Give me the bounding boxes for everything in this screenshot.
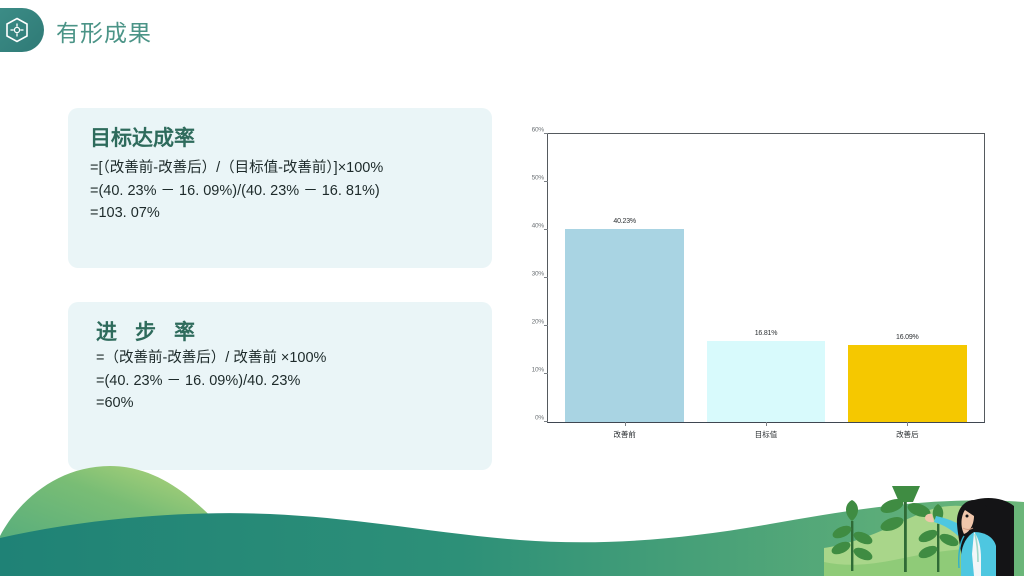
hill-light-shape [0, 466, 282, 576]
results-bar-chart: 0%10%20%30%40%50%60% 40.23%改善前16.81%目标值1… [505, 108, 1005, 458]
woman-figure [925, 498, 1014, 576]
chart-y-tick-label: 50% [532, 175, 544, 182]
chart-bar-group[interactable]: 16.09%改善后 [848, 134, 967, 422]
chart-bars-layer: 40.23%改善前16.81%目标值16.09%改善后 [548, 134, 984, 422]
wave-dark-shape [0, 500, 1024, 576]
chart-x-tick-label: 改善前 [613, 429, 636, 440]
chart-x-tick-label: 目标值 [755, 429, 778, 440]
progress-rate-heading: 进步率 [90, 320, 470, 345]
chart-y-tick-label: 10% [532, 367, 544, 374]
illustration-hill-front [824, 549, 1014, 576]
chart-bar-group[interactable]: 16.81%目标值 [707, 134, 826, 422]
chart-x-tick-mark [625, 422, 626, 426]
chart-y-tick-label: 0% [535, 415, 544, 422]
plant-left-icon [830, 500, 875, 571]
chart-bar-value-label: 16.81% [755, 330, 778, 337]
chart-y-tick-label: 20% [532, 319, 544, 326]
header-badge [0, 8, 44, 52]
chart-y-tick-label: 30% [532, 271, 544, 278]
progress-rate-card: 进步率 =（改善前-改善后）/ 改善前 ×100% =(40. 23% － 16… [68, 302, 492, 470]
chart-x-tick-label: 改善后 [896, 429, 919, 440]
chart-plot-area: 0%10%20%30%40%50%60% 40.23%改善前16.81%目标值1… [547, 133, 985, 423]
chart-bar-value-label: 40.23% [613, 218, 636, 225]
chart-bar[interactable] [707, 341, 826, 422]
woman-watering-plants-illustration [824, 466, 1014, 576]
chart-bar-group[interactable]: 40.23%改善前 [565, 134, 684, 422]
hexagon-target-icon [5, 17, 29, 43]
progress-rate-formula: =（改善前-改善后）/ 改善前 ×100% =(40. 23% － 16. 09… [90, 347, 470, 414]
chart-y-tick-label: 40% [532, 223, 544, 230]
goal-achievement-card: 目标达成率 =[（改善前-改善后）/（目标值-改善前）]×100% =(40. … [68, 108, 492, 268]
goal-achievement-heading: 目标达成率 [90, 126, 470, 151]
chart-bar-value-label: 16.09% [896, 334, 919, 341]
chart-x-tick-mark [907, 422, 908, 426]
illustration-hill [824, 506, 1014, 576]
chart-bar[interactable] [848, 345, 967, 422]
page-title: 有形成果 [56, 14, 152, 48]
plant-right-icon [917, 504, 960, 572]
chart-bar[interactable] [565, 229, 684, 422]
chart-x-tick-mark [766, 422, 767, 426]
slide-header: 有形成果 [0, 0, 1024, 62]
goal-achievement-formula: =[（改善前-改善后）/（目标值-改善前）]×100% =(40. 23% － … [90, 157, 470, 224]
plant-center-icon [879, 486, 933, 572]
chart-y-tick-label: 60% [532, 127, 544, 134]
